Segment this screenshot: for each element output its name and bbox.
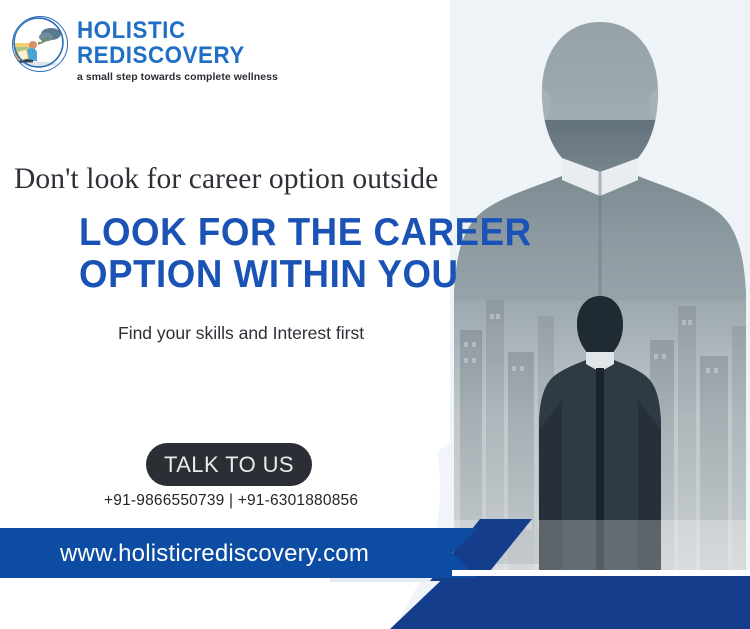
white-separator-notch bbox=[452, 570, 750, 576]
subheadline: Find your skills and Interest first bbox=[118, 323, 364, 344]
headline-serif: Don't look for career option outside bbox=[14, 163, 438, 196]
brand-name-block: HOLISTIC REDISCOVERY a small step toward… bbox=[77, 14, 278, 83]
headline-bold-line2: OPTION WITHIN YOU bbox=[79, 254, 532, 296]
businessman-double-exposure-photo bbox=[450, 0, 750, 600]
website-url[interactable]: www.holisticrediscovery.com bbox=[60, 540, 369, 568]
brand-name-line2: REDISCOVERY bbox=[77, 43, 264, 68]
headline-bold-line1: LOOK FOR THE CAREER bbox=[79, 212, 532, 254]
brand-name-line1: HOLISTIC bbox=[77, 18, 264, 43]
brand-tagline: a small step towards complete wellness bbox=[77, 71, 278, 83]
promotional-poster: HOLISTIC REDISCOVERY a small step toward… bbox=[0, 0, 750, 629]
headline-bold: LOOK FOR THE CAREER OPTION WITHIN YOU bbox=[79, 212, 532, 296]
talk-to-us-button[interactable]: TALK TO US bbox=[146, 443, 312, 486]
brand-logo[interactable]: HOLISTIC REDISCOVERY a small step toward… bbox=[12, 14, 278, 83]
phone-numbers[interactable]: +91-9866550739 | +91-6301880856 bbox=[104, 492, 358, 510]
person-reading-under-tree-icon bbox=[12, 16, 68, 72]
